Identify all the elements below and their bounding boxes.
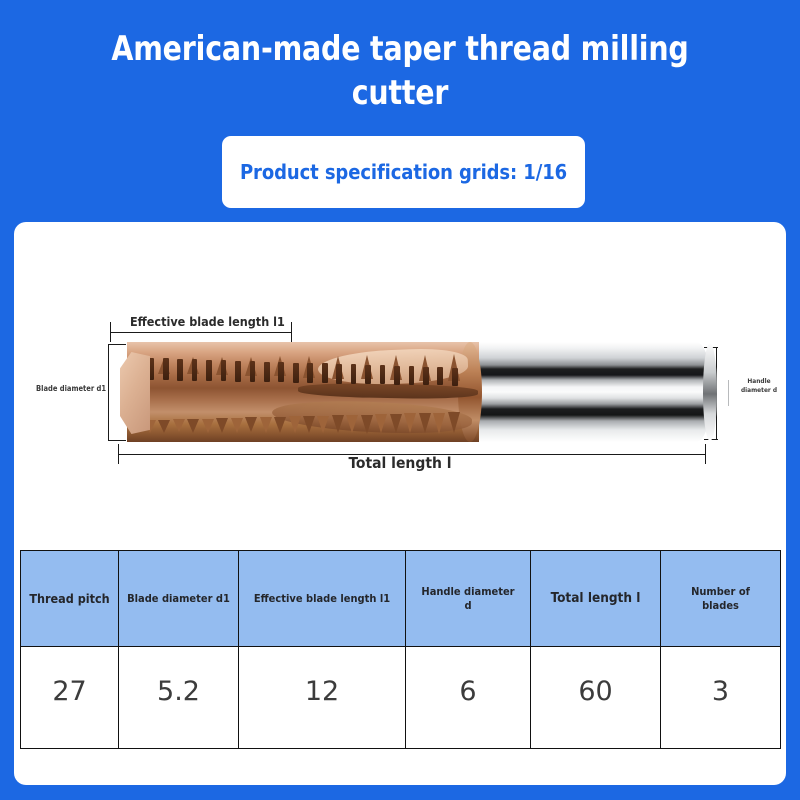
blade-diameter-dim-line <box>108 344 109 441</box>
thread-tooth <box>375 414 387 433</box>
cell-number-of-blades: 3 <box>661 647 781 749</box>
thread-groove <box>380 365 386 384</box>
cell-blade-diameter: 5.2 <box>119 647 239 749</box>
column-header-handle-diameter: Handle diameter d <box>406 551 531 647</box>
handle-diameter-label: Handle diameter d <box>736 377 782 395</box>
thread-groove <box>365 365 371 384</box>
thread-groove <box>206 360 212 381</box>
thread-groove <box>437 367 443 385</box>
thread-tooth <box>260 417 272 433</box>
page-title: American-made taper thread milling cutte… <box>65 28 735 115</box>
cell-effective-blade-length: 12 <box>239 647 406 749</box>
spec-grid-badge[interactable]: Product specification grids: 1/16 <box>222 136 585 208</box>
total-length-label: Total length l <box>14 454 786 472</box>
thread-tooth <box>187 419 199 433</box>
effective-blade-length-tick-right <box>291 322 292 342</box>
column-header-total-length: Total length l <box>531 551 661 647</box>
thread-groove <box>394 366 400 385</box>
cell-handle-diameter: 6 <box>406 647 531 749</box>
thread-tooth <box>303 416 315 433</box>
thread-groove <box>452 368 458 386</box>
cell-total-length: 60 <box>531 647 661 749</box>
thread-groove <box>307 363 313 383</box>
thread-tooth <box>448 412 460 433</box>
thread-tooth <box>404 413 416 433</box>
thread-groove <box>322 363 328 383</box>
thread-tooth <box>202 419 214 433</box>
thread-tooth <box>390 414 402 433</box>
thread-tooth <box>346 415 358 433</box>
thread-groove <box>192 359 198 380</box>
thread-groove <box>278 362 284 382</box>
column-header-number-of-blades: Number of blades <box>661 551 781 647</box>
thread-groove <box>221 360 227 381</box>
thread-groove <box>293 363 299 383</box>
effective-blade-length-dim-line <box>110 332 292 333</box>
thread-groove <box>336 364 342 384</box>
thread-tooth <box>419 413 431 433</box>
product-diagram: Effective blade length l1 Blade diameter… <box>14 222 786 522</box>
thread-groove <box>351 364 357 383</box>
blade-diameter-label: Blade diameter d1 <box>36 384 106 393</box>
handle-diameter-inner-mark <box>728 380 729 406</box>
thread-groove <box>423 367 429 386</box>
thread-groove <box>177 359 183 381</box>
thread-tooth <box>245 417 257 432</box>
thread-tooth <box>433 413 445 434</box>
thread-groove <box>235 361 241 382</box>
thread-tooth <box>158 420 170 433</box>
thread-tooth <box>317 416 329 433</box>
cutter-front-face <box>120 352 150 434</box>
thread-tooth <box>173 419 185 432</box>
column-header-effective-blade-length: Effective blade length l1 <box>239 551 406 647</box>
cutter-shank <box>466 342 712 442</box>
product-card: Effective blade length l1 Blade diameter… <box>14 222 786 785</box>
thread-tooth <box>216 418 228 433</box>
thread-tooth <box>274 417 286 433</box>
thread-groove <box>250 361 256 382</box>
cutter-shank-end-cap <box>703 343 717 441</box>
effective-blade-length-tick-left <box>110 322 111 342</box>
thread-tooth <box>231 418 243 433</box>
thread-tooth <box>361 415 373 434</box>
thread-tooth <box>289 416 301 433</box>
cutter-threads-bottom <box>144 404 462 442</box>
thread-groove <box>264 362 270 383</box>
table-row: 27 5.2 12 6 60 3 <box>21 647 781 749</box>
table-header-row: Thread pitch Blade diameter d1 Effective… <box>21 551 781 647</box>
specification-table: Thread pitch Blade diameter d1 Effective… <box>20 550 781 749</box>
cell-thread-pitch: 27 <box>21 647 119 749</box>
thread-groove <box>409 366 415 385</box>
spec-grid-badge-label: Product specification grids: 1/16 <box>240 160 567 184</box>
column-header-blade-diameter: Blade diameter d1 <box>119 551 239 647</box>
cutter-threads-top <box>144 344 462 386</box>
effective-blade-length-label: Effective blade length l1 <box>130 314 285 329</box>
milling-cutter-illustration <box>122 342 712 442</box>
column-header-thread-pitch: Thread pitch <box>21 551 119 647</box>
thread-groove <box>163 358 169 380</box>
thread-tooth <box>332 415 344 433</box>
